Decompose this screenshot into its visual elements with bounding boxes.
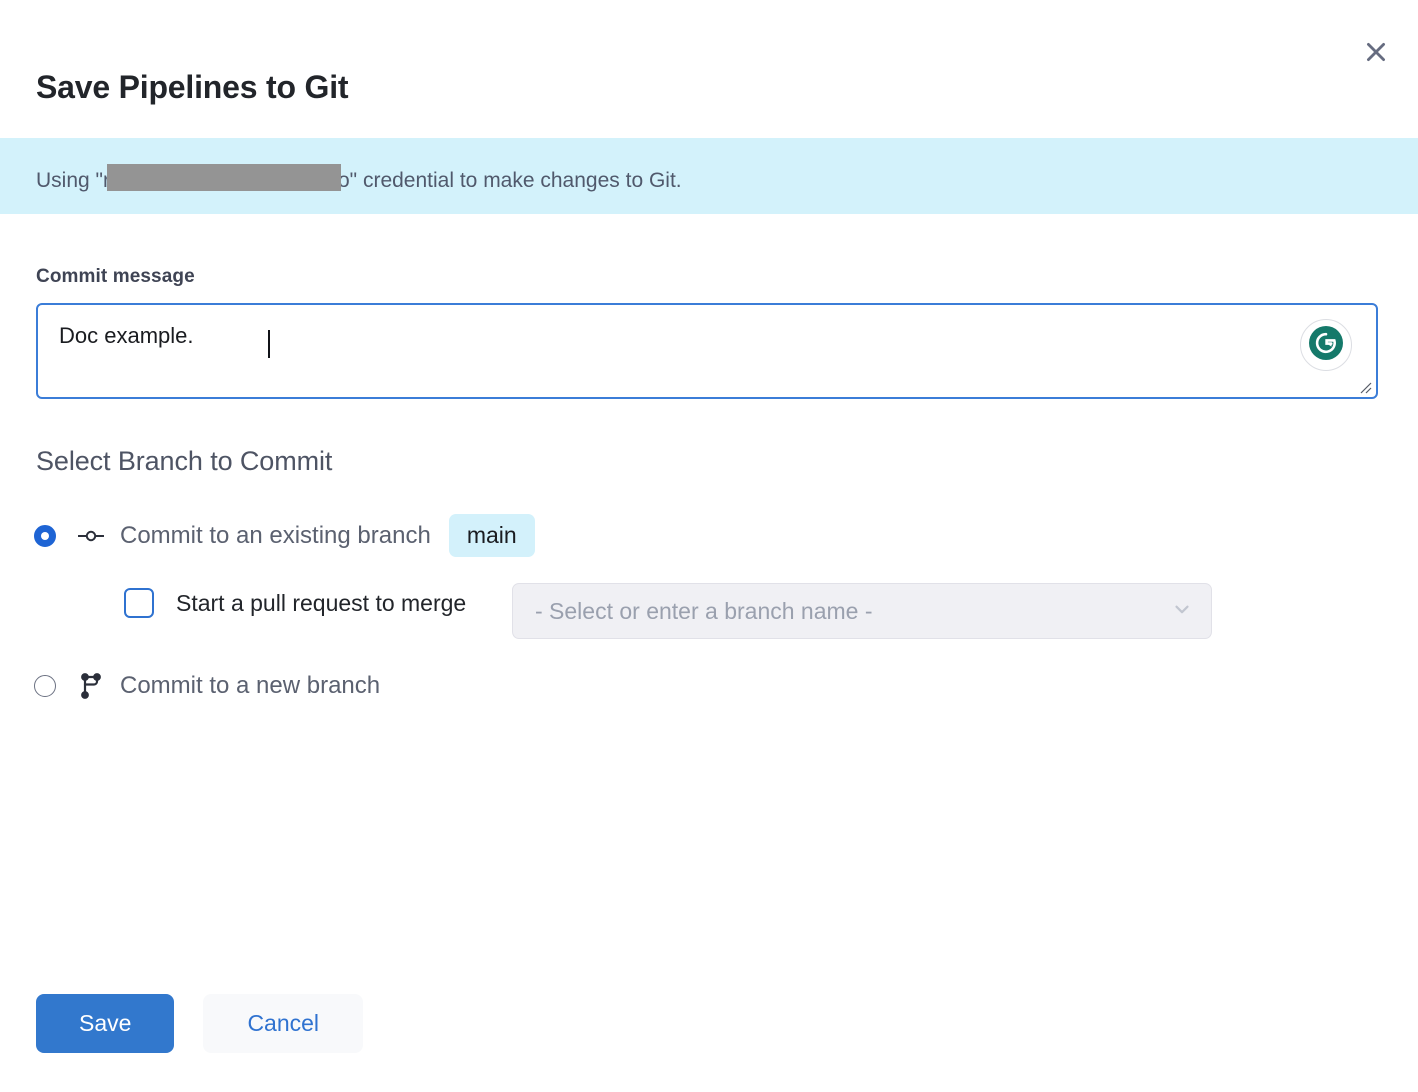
pull-request-checkbox[interactable] bbox=[124, 588, 154, 618]
save-pipelines-dialog: Save Pipelines to Git Using "ro" credent… bbox=[0, 0, 1418, 1092]
text-caret bbox=[268, 330, 270, 358]
credential-banner-suffix: o" credential to make changes to Git. bbox=[338, 169, 682, 193]
commit-message-wrapper bbox=[36, 303, 1378, 399]
git-branch-icon bbox=[78, 673, 104, 699]
cancel-button[interactable]: Cancel bbox=[203, 994, 363, 1053]
save-button[interactable]: Save bbox=[36, 994, 174, 1053]
radio-new-branch[interactable] bbox=[34, 675, 56, 697]
option-commit-existing-branch[interactable]: Commit to an existing branch main bbox=[34, 514, 535, 557]
git-commit-icon bbox=[78, 526, 104, 546]
chevron-down-icon bbox=[1171, 598, 1193, 625]
pull-request-branch-select[interactable]: - Select or enter a branch name - bbox=[512, 583, 1212, 639]
dialog-footer: Save Cancel bbox=[36, 994, 363, 1053]
commit-message-input[interactable] bbox=[36, 303, 1378, 399]
option-commit-new-branch[interactable]: Commit to a new branch bbox=[34, 672, 380, 700]
pull-request-row: Start a pull request to merge bbox=[124, 588, 466, 618]
option-existing-branch-label: Commit to an existing branch bbox=[120, 522, 431, 550]
pull-request-label: Start a pull request to merge bbox=[176, 590, 466, 617]
radio-existing-branch[interactable] bbox=[34, 525, 56, 547]
current-branch-badge: main bbox=[449, 514, 535, 557]
credential-banner: Using "ro" credential to make changes to… bbox=[0, 138, 1418, 214]
option-new-branch-label: Commit to a new branch bbox=[120, 672, 380, 700]
grammarly-icon bbox=[1307, 324, 1345, 367]
grammarly-button[interactable] bbox=[1300, 319, 1352, 371]
branch-section-heading: Select Branch to Commit bbox=[36, 446, 332, 477]
commit-message-label: Commit message bbox=[36, 266, 195, 288]
dialog-title: Save Pipelines to Git bbox=[36, 68, 348, 106]
close-icon bbox=[1363, 39, 1389, 65]
pull-request-branch-select-placeholder: - Select or enter a branch name - bbox=[535, 598, 873, 625]
close-button[interactable] bbox=[1354, 30, 1398, 74]
credential-banner-prefix: Using "r bbox=[36, 169, 110, 193]
credential-banner-text: Using "ro" credential to make changes to… bbox=[36, 160, 682, 193]
redacted-credential-name bbox=[107, 164, 341, 191]
